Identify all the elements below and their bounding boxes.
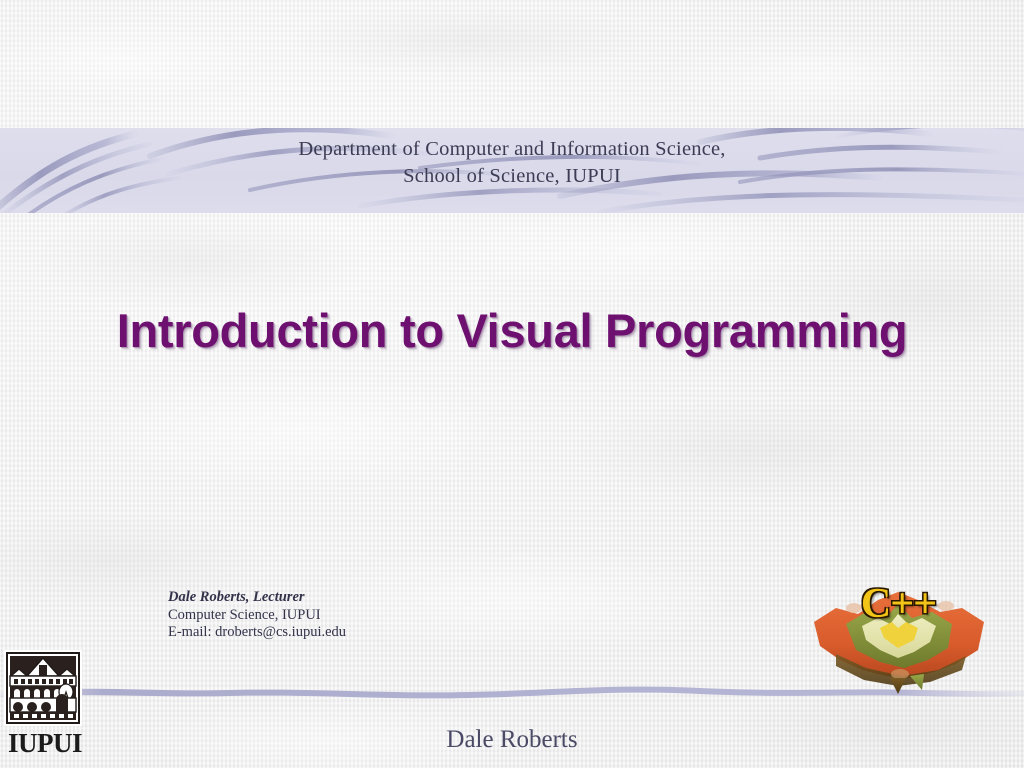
author-info-block: Dale Roberts, Lecturer Computer Science,… <box>168 589 346 642</box>
presentation-slide: Department of Computer and Information S… <box>0 0 1024 768</box>
author-name-role: Dale Roberts, Lecturer <box>168 589 346 607</box>
iupui-logo: IUPUI <box>4 650 88 764</box>
iupui-wordmark: IUPUI <box>4 728 86 758</box>
slide-title-text: Introduction to Visual Programming <box>117 304 908 357</box>
author-department: Computer Science, IUPUI <box>168 607 346 625</box>
department-heading-line2: School of Science, IUPUI <box>0 163 1024 190</box>
department-heading: Department of Computer and Information S… <box>0 136 1024 190</box>
footer-presenter-name: Dale Roberts <box>0 726 1024 754</box>
iupui-building-mark <box>4 650 82 726</box>
author-email: E-mail: droberts@cs.iupui.edu <box>168 624 346 642</box>
cpp-text-label: C++ <box>806 582 991 626</box>
iupui-building-icon <box>6 652 80 724</box>
cpp-logo-graphic: C++ <box>806 578 991 696</box>
department-heading-line1: Department of Computer and Information S… <box>0 136 1024 163</box>
slide-title: Introduction to Visual Programming <box>0 303 1024 358</box>
